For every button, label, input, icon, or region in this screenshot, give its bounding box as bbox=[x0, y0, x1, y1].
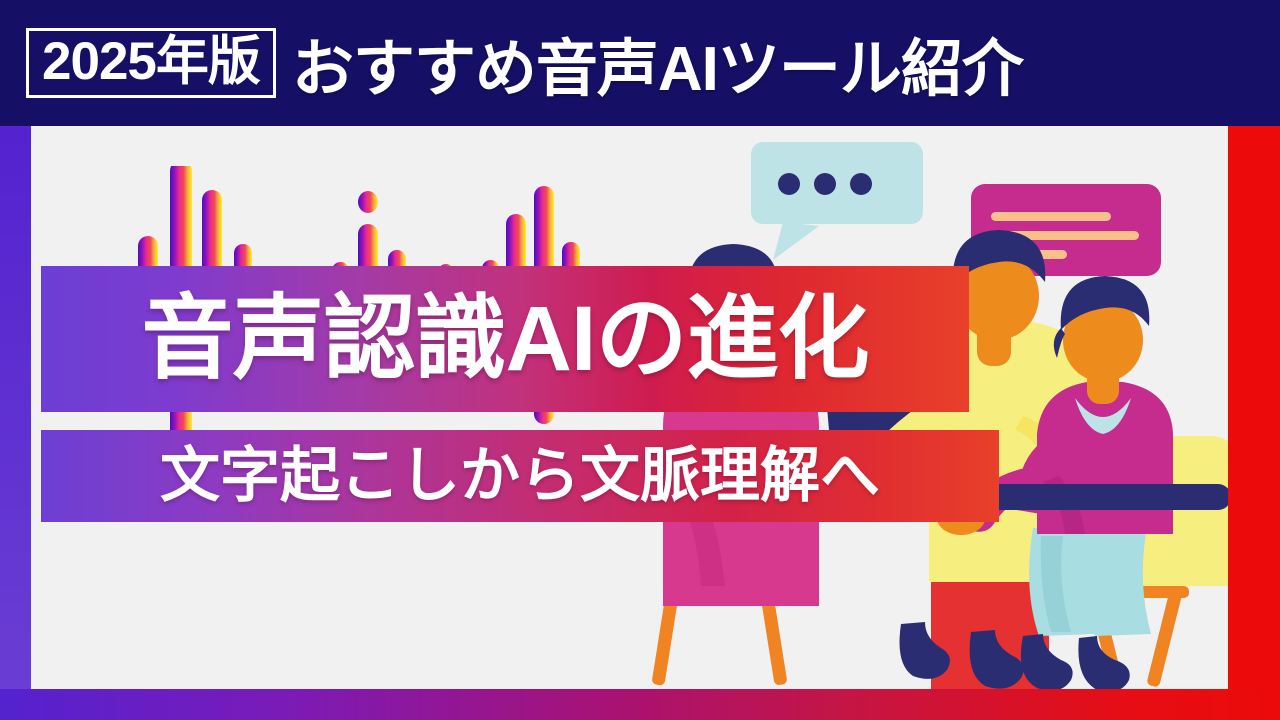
speech-bubble-dots bbox=[751, 142, 923, 260]
thumbnail-canvas: 音声認識AIの進化 文字起こしから文脈理解へ 2025年版 おすすめ音声AIツー… bbox=[0, 0, 1280, 720]
people-illustration bbox=[631, 136, 1228, 689]
header-bar: 2025年版 おすすめ音声AIツール紹介 bbox=[0, 0, 1280, 126]
subtitle-band: 文字起こしから文脈理解へ bbox=[41, 430, 999, 522]
bubble-text-line bbox=[991, 212, 1111, 221]
illustration-svg bbox=[631, 136, 1228, 689]
frame-bottom-border bbox=[0, 689, 1280, 720]
year-badge: 2025年版 bbox=[26, 28, 276, 98]
main-title-text: 音声認識AIの進化 bbox=[141, 293, 868, 385]
bubble-dot bbox=[850, 173, 872, 195]
year-badge-text: 2025年版 bbox=[42, 35, 260, 88]
bubble-dot bbox=[814, 173, 836, 195]
header-title-text: おすすめ音声AIツール紹介 bbox=[292, 18, 1023, 108]
main-title-band: 音声認識AIの進化 bbox=[41, 266, 969, 412]
frame-left-border bbox=[0, 126, 31, 720]
bubble-dot bbox=[778, 173, 800, 195]
frame-right-border bbox=[1228, 126, 1280, 720]
subtitle-text: 文字起こしから文脈理解へ bbox=[160, 446, 880, 506]
